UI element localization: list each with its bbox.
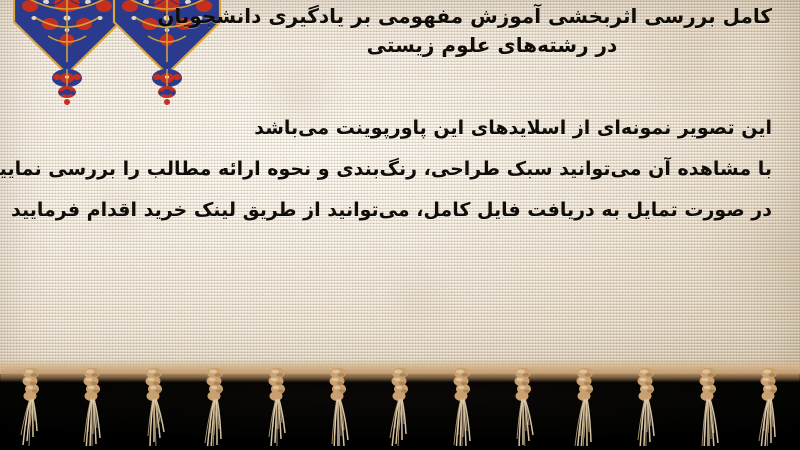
- fringe-tassel: [75, 368, 109, 446]
- slide-body-text: این تصویر نمونه‌ای از اسلایدهای این پاور…: [28, 108, 772, 231]
- fringe-tassel: [383, 368, 417, 446]
- fringe-tassel: [506, 368, 540, 446]
- fringe-tassel: [198, 368, 232, 446]
- fringe-tassel: [321, 368, 355, 446]
- slide-canvas: کامل بررسی اثربخشی آموزش مفهومی بر یادگی…: [0, 0, 800, 450]
- fringe-tassel: [629, 368, 663, 446]
- fringe-tassel: [260, 368, 294, 446]
- body-line-1: این تصویر نمونه‌ای از اسلایدهای این پاور…: [28, 108, 772, 149]
- fringe-tassel: [137, 368, 171, 446]
- fringe-tassel: [14, 368, 48, 446]
- carpet-fringe: [0, 360, 800, 450]
- fringe-tassel: [691, 368, 725, 446]
- fringe-tassel: [752, 368, 786, 446]
- slide-title: کامل بررسی اثربخشی آموزش مفهومی بر یادگی…: [212, 2, 772, 60]
- fringe-tassel: [568, 368, 602, 446]
- slide-title-line-2: در رشته‌های علوم زیستی: [212, 31, 772, 60]
- body-line-2: با مشاهده آن می‌توانید سبک طراحی، رنگ‌بن…: [28, 149, 772, 190]
- fringe-tassel: [445, 368, 479, 446]
- slide-title-line-1: کامل بررسی اثربخشی آموزش مفهومی بر یادگی…: [212, 2, 772, 31]
- body-line-3: در صورت تمایل به دریافت فایل کامل، می‌تو…: [28, 190, 772, 231]
